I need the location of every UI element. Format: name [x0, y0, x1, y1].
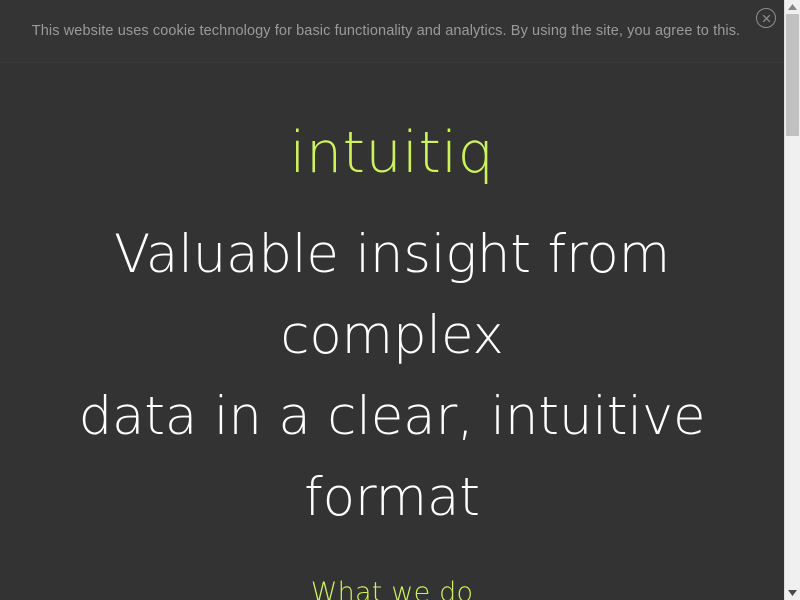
triangle-up-icon[interactable]: [785, 0, 800, 14]
hero-section: intuitiq Valuable insight from complex d…: [0, 63, 784, 600]
triangle-up-glyph: [788, 4, 797, 10]
what-we-do-link[interactable]: What we do: [311, 579, 473, 600]
page-viewport: This website uses cookie technology for …: [0, 0, 784, 600]
vertical-scrollbar[interactable]: [784, 0, 800, 600]
headline-line-2: data in a clear, intuitive format: [12, 376, 772, 538]
close-x-glyph: [761, 13, 772, 24]
triangle-down-glyph: [788, 590, 797, 596]
triangle-down-icon[interactable]: [785, 586, 800, 600]
scrollbar-thumb[interactable]: [786, 14, 799, 136]
close-circle-icon[interactable]: [756, 8, 776, 28]
page-title: Valuable insight from complex data in a …: [12, 214, 772, 538]
headline-line-1: Valuable insight from complex: [12, 214, 772, 376]
site-logo[interactable]: intuitiq: [290, 125, 495, 182]
cookie-consent-banner: This website uses cookie technology for …: [0, 0, 784, 63]
cookie-consent-message: This website uses cookie technology for …: [32, 18, 740, 45]
